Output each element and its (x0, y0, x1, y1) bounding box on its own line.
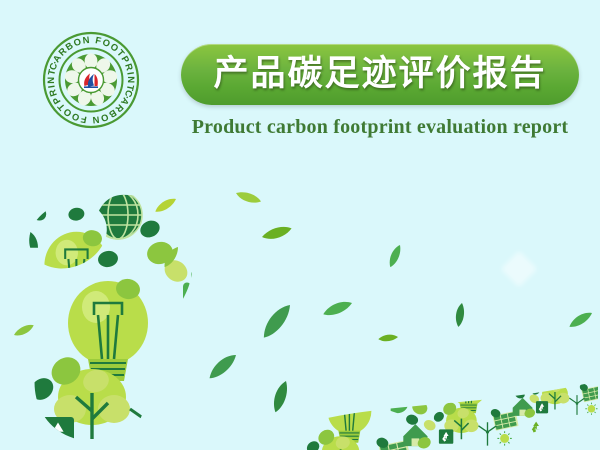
carbon-footprint-seal-icon: CARBON FOOTPRINT · CARBON FOOTPRINT · (41, 30, 141, 130)
report-title-banner: 产品碳足迹评价报告 (181, 44, 579, 105)
page-subtitle: Product carbon footprint evaluation repo… (181, 116, 579, 139)
page-title: 产品碳足迹评价报告 (213, 57, 546, 92)
footprint-trail-cluster (299, 305, 600, 450)
eco-footprint-artwork (0, 185, 600, 450)
cover-page: CARBON FOOTPRINT · CARBON FOOTPRINT · (0, 0, 600, 450)
cover-header: CARBON FOOTPRINT · CARBON FOOTPRINT · (0, 0, 600, 165)
